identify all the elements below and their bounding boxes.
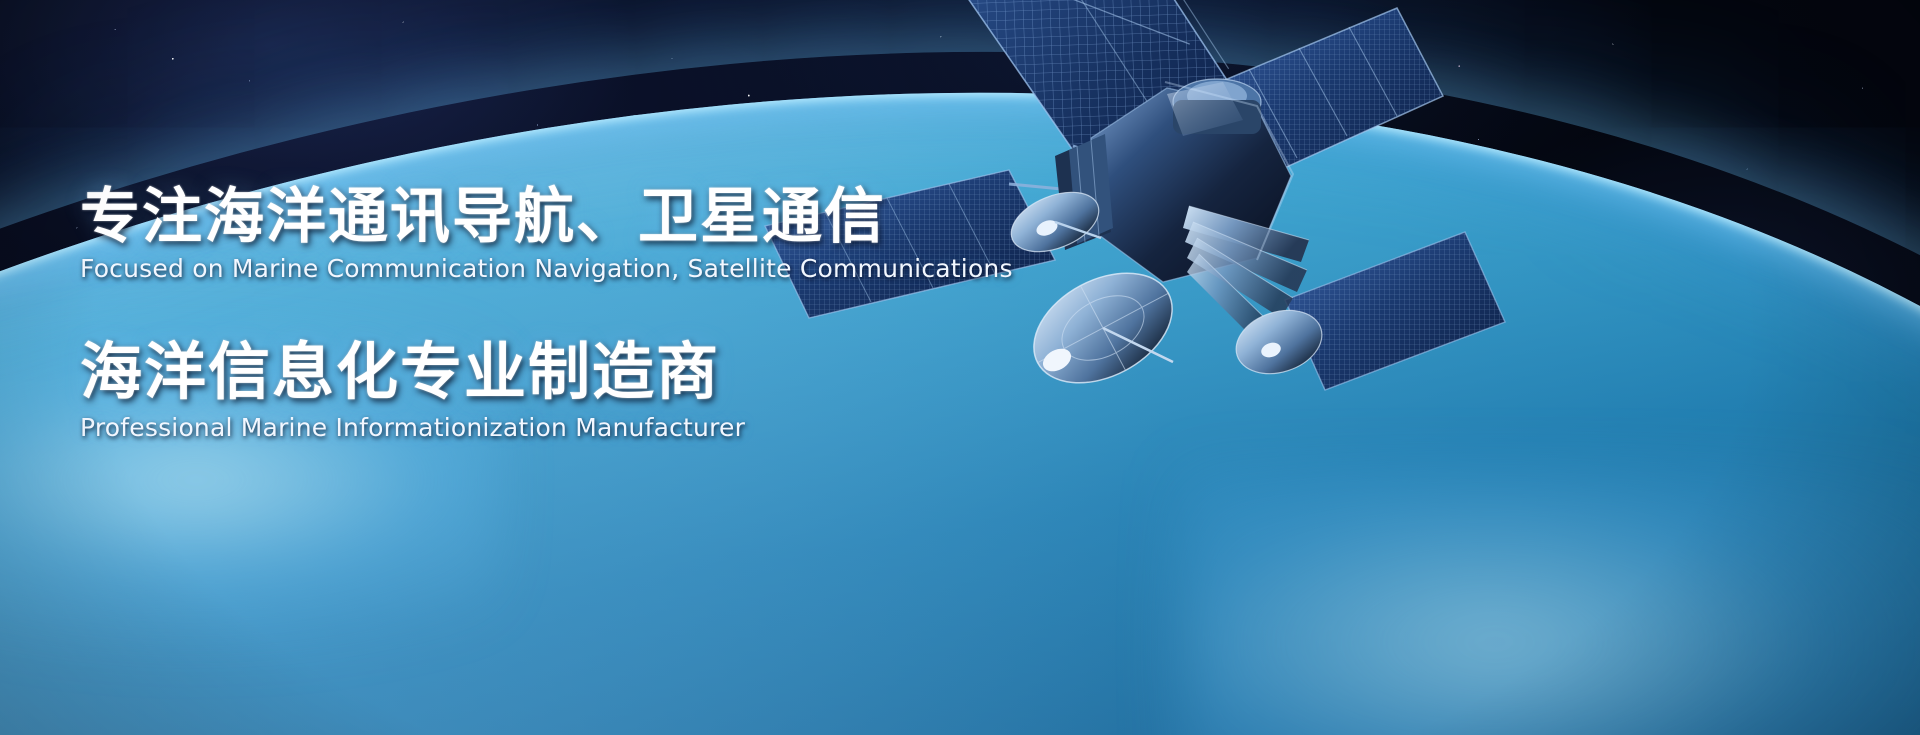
- headline-group-secondary: 海洋信息化专业制造商 Professional Marine Informati…: [80, 340, 1060, 442]
- headline-group-primary: 专注海洋通讯导航、卫星通信 Focused on Marine Communic…: [80, 186, 1060, 284]
- hero-banner: 专注海洋通讯导航、卫星通信 Focused on Marine Communic…: [0, 0, 1920, 735]
- headline-primary-en: Focused on Marine Communication Navigati…: [80, 254, 1060, 284]
- headline-secondary-cn: 海洋信息化专业制造商: [80, 340, 1060, 404]
- hero-copy: 专注海洋通讯导航、卫星通信 Focused on Marine Communic…: [80, 186, 1060, 499]
- headline-secondary-en: Professional Marine Informationization M…: [80, 413, 1060, 443]
- headline-primary-cn: 专注海洋通讯导航、卫星通信: [80, 186, 1060, 248]
